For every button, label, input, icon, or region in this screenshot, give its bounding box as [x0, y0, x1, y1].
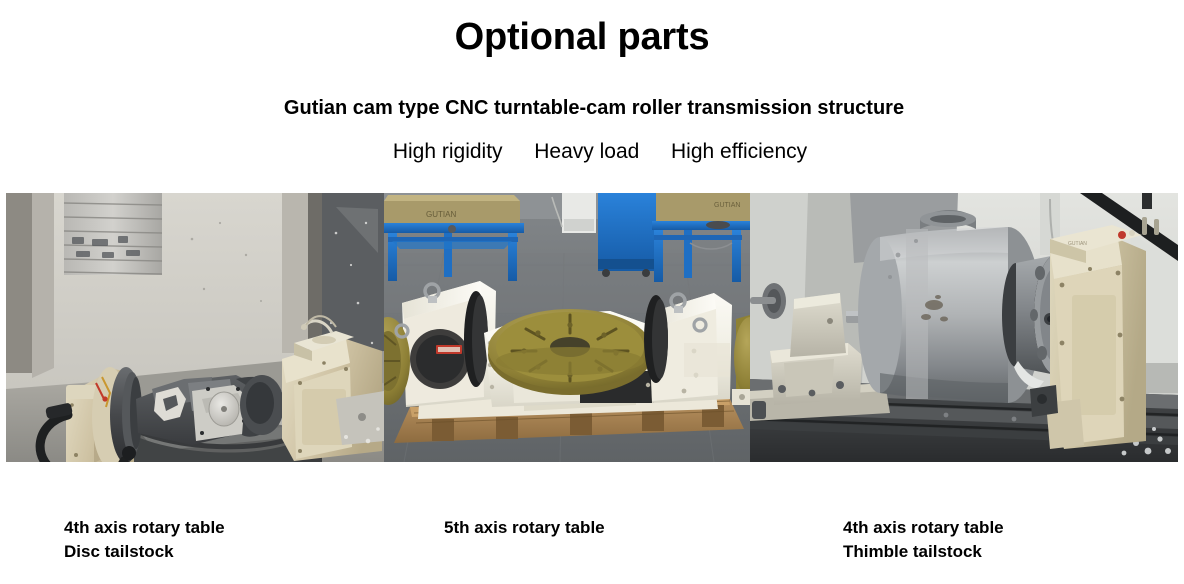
caption-1-line-2: Disc tailstock — [64, 540, 225, 564]
gallery-image-5th-axis-rotary-table[interactable]: GUTIAN GUTIAN — [384, 193, 750, 462]
caption-5th-axis-rotary-table: 5th axis rotary table — [444, 516, 605, 540]
gallery-captions: 4th axis rotary table Disc tailstock 5th… — [0, 516, 1184, 576]
svg-text:GUTIAN: GUTIAN — [426, 210, 456, 219]
page-title: Optional parts — [0, 14, 1164, 60]
svg-text:GUTIAN: GUTIAN — [714, 202, 740, 209]
feature-list: High rigidity Heavy load High efficiency — [0, 138, 1184, 166]
page-subtitle: Gutian cam type CNC turntable-cam roller… — [0, 95, 1184, 121]
gallery-image-4th-axis-disc-tailstock[interactable] — [6, 193, 384, 462]
caption-3-line-2: Thimble tailstock — [843, 540, 1004, 564]
caption-4th-axis-thimble-tailstock: 4th axis rotary table Thimble tailstock — [843, 516, 1004, 564]
caption-4th-axis-disc-tailstock: 4th axis rotary table Disc tailstock — [64, 516, 225, 564]
caption-3-line-1: 4th axis rotary table — [843, 518, 1004, 537]
gallery-image-4th-axis-thimble-tailstock[interactable]: GUTIAN — [750, 193, 1178, 462]
feature-high-efficiency: High efficiency — [671, 138, 807, 166]
feature-high-rigidity: High rigidity — [393, 138, 503, 166]
product-photo-gallery: GUTIAN GUTIAN — [6, 193, 1178, 462]
caption-1-line-1: 4th axis rotary table — [64, 518, 225, 537]
caption-2-line-1: 5th axis rotary table — [444, 518, 605, 537]
svg-text:GUTIAN: GUTIAN — [1068, 241, 1087, 247]
feature-heavy-load: Heavy load — [534, 138, 639, 166]
